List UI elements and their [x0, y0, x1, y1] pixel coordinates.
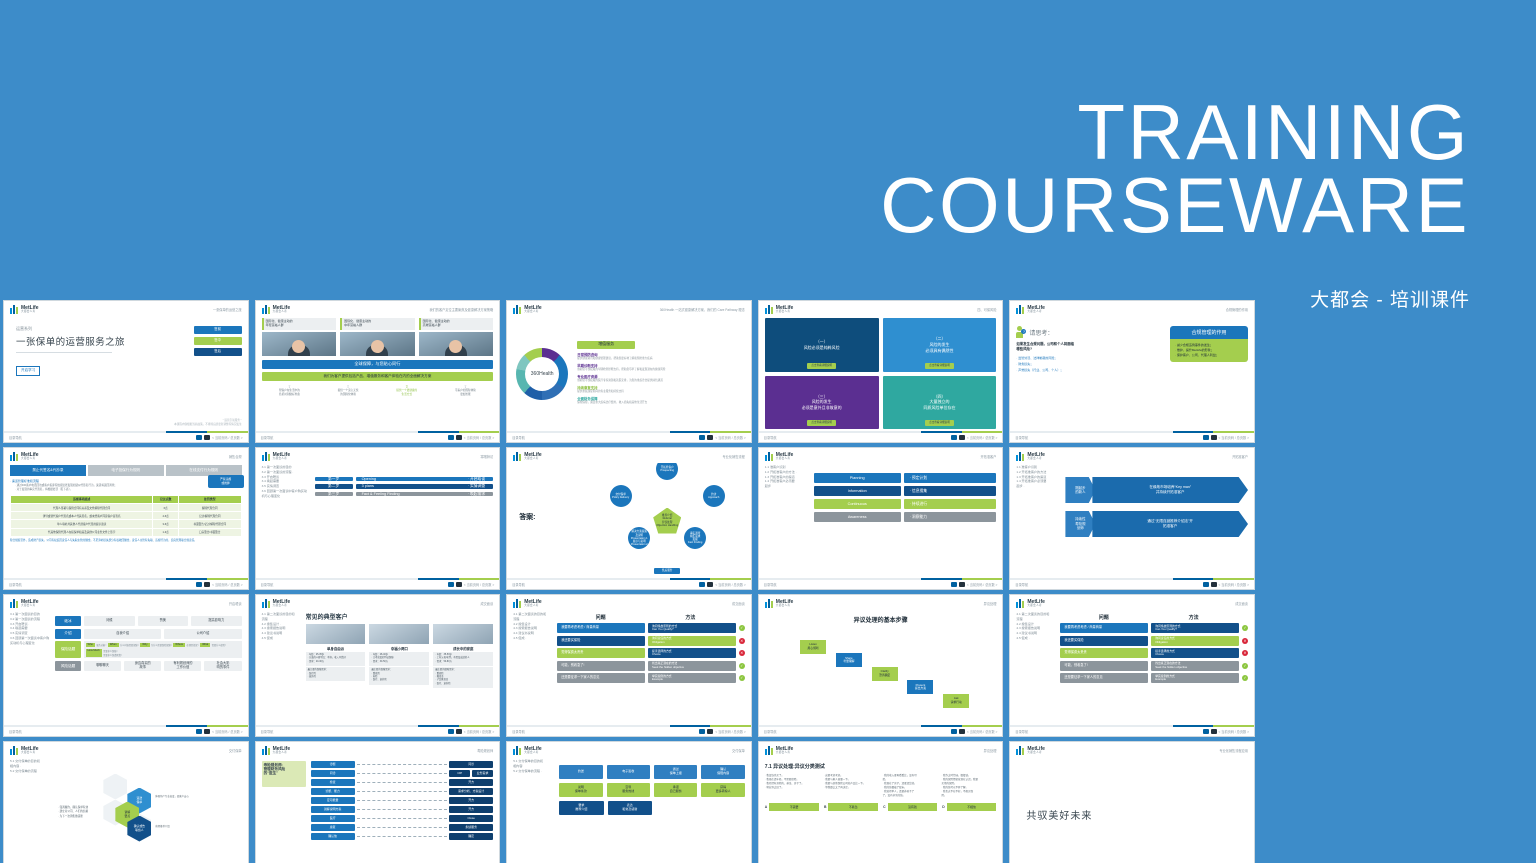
progress-bar [4, 578, 248, 580]
cross-icon: ✕ [739, 650, 745, 656]
table-row: 单人填补并其他人代替客户代签用提示语录3-6点书面警告/记过/解除代理合同 [11, 520, 242, 528]
topic-row: 保险话题Who服务对象?When什么时候需要保障?Why为什么需要保险保障?Wh… [55, 641, 242, 658]
book-icon[interactable] [448, 582, 454, 587]
page-nav[interactable]: < 当前页码 / 总页数 > [464, 729, 494, 734]
page-nav[interactable]: < 当前页码 / 总页数 > [212, 582, 242, 587]
book-icon[interactable] [699, 582, 705, 587]
topic-key: 破冰 [55, 616, 81, 626]
service-desc: 协助您寻找权威的医疗专家资源和就医安排，为您的重疾诊治提供绿色通道 [577, 379, 745, 383]
outline-item[interactable]: 5.2 交付保单的流程 [10, 769, 52, 774]
slide-canvas: MetLife大都会人寿四、可保风险（一）风险必须是纯粹风险点击查看详细说明（二… [759, 301, 1003, 442]
check-icon: ✓ [739, 625, 745, 631]
answer-option[interactable]: B不着急 [824, 803, 878, 811]
table-header-cell: 记过点数 [153, 495, 179, 503]
slide-outline-nav: 4.1 第二次面谈的目的和 流程4.2 搜集设计 ·4.3 搜索报告说明4.4 … [262, 612, 302, 641]
book-icon[interactable] [196, 582, 202, 587]
objection-question: 可能，别着急了! [557, 661, 645, 671]
objection-column: 我的收入要再看看比，没有可给。我现在了房子，还要还贷款。我的钱都被了股市。我觉得… [883, 774, 938, 798]
cycle-bottom-label: 售后服务 [654, 568, 680, 574]
video-icon[interactable] [1211, 582, 1217, 587]
dotted-connector [357, 836, 448, 837]
topic-cell: 提高影响力 [191, 616, 242, 626]
slide-outline-nav: 5.1 交付保单的目的和 相内容 ·5.2 交付保单的流程 [10, 759, 52, 773]
rule-tab[interactable]: 电子投保行为规则 [88, 465, 164, 476]
metlife-logo-text: MetLife大都会人寿 [273, 747, 291, 755]
toc-nav-label[interactable]: 目录导航 [1015, 729, 1028, 734]
slide-thumbnail[interactable]: MetLife大都会人寿销售合规禁止代签名&代抄录电子投保行为规则在线支付行为规… [3, 447, 249, 590]
toc-nav-label[interactable]: 目录导航 [764, 729, 777, 734]
quadrant-detail-button[interactable]: 点击查看详细说明 [925, 420, 954, 426]
persona-caption: 国际化、健康主动的中年富裕人群 [340, 318, 415, 330]
slide-body: 答案:开拓准客户Prospecting约访Approach事实调查购买需求发掘F… [507, 463, 751, 578]
page-nav[interactable]: < 当前页码 / 总页数 > [715, 582, 745, 587]
flow-step: 宣导服务热线 [607, 783, 650, 797]
slide-thumbnail[interactable]: MetLife大都会人寿我们的客户定位主要聚焦及健康解决方案策略国际化、健康主动… [255, 300, 501, 443]
quadrant-detail-button[interactable]: 点击查看详细说明 [807, 420, 836, 426]
metlife-logo: MetLife大都会人寿 [513, 452, 542, 461]
slide-body: 360Health增值服务日常预防咨询提供健康资讯和健康管理建议，帮助您更好地了… [507, 316, 751, 431]
slide-thumbnail[interactable]: MetLife大都会人寿成交面谈4.1 第二次面谈的目的和 流程4.2 搜集设计… [255, 594, 501, 737]
slide-body: 7.1 异议处理:异议分类测试我没钱也买了。我现在还年轻，不需要保险。我已经有其… [759, 757, 1003, 863]
book-icon[interactable] [951, 435, 957, 440]
rule-bullet: · 对于发现的事实代签名，将根据处罚（见下表）。 [10, 488, 242, 492]
step-en: Fact & Feeling Finding [362, 492, 400, 496]
slide-breadcrumb: 开拓准客户 [1232, 454, 1248, 459]
five-w-tag[interactable]: What [200, 643, 210, 648]
donut-chart: 360Health [513, 348, 571, 400]
customer-photo [369, 624, 429, 644]
quadrant-text: 风险的发生必须是意外且非故意的 [802, 399, 842, 410]
metlife-logo-icon [1016, 452, 1025, 461]
flow-step: 获得更多转嫁人 [701, 783, 744, 797]
think-question: 如果发生合规问题，公司和个人将面临哪些风险? [1016, 342, 1164, 352]
slide-breadcrumb: 异议处理 [984, 748, 997, 753]
service-desc: 协助您寻找权威的早期检测诊断支持，帮助您尽早了解和发现潜在的健康风险 [577, 368, 745, 372]
outline-item[interactable]: 4.1 第二次面谈的目的和 流程 [262, 612, 302, 622]
topic-cell: 社会大影响的事件 [204, 661, 241, 671]
footer-controls: < 当前页码 / 总页数 > [448, 582, 494, 587]
slide-header: MetLife大都会人寿合规管理的作用 [1010, 301, 1254, 316]
slide-thumbnail[interactable]: MetLife大都会人寿开拓准客户1.1 准客户识别1.2 开拓准客户的方法 ·… [758, 447, 1004, 590]
book-icon[interactable] [196, 729, 202, 734]
toc-nav-label[interactable]: 目录导航 [261, 435, 274, 440]
cycle-node: 解决方案提案及说明Presentation 1展示与说明Presentation… [628, 527, 650, 549]
book-icon[interactable] [1203, 582, 1209, 587]
step-content: 3 plans· 实情调查 [356, 484, 494, 488]
objection-row: 觉得保费太贵贵提手选择的方式Choice✕ [557, 648, 745, 658]
slide-footer: 目录导航< 当前页码 / 总页数 > [256, 431, 500, 442]
topic-cell: 公司介绍 [164, 629, 241, 639]
metlife-logo: MetLife大都会人寿 [10, 452, 39, 461]
slide-body: 5.1 交付保单的目的和 相内容5.2 交付保单的流程 ·约送电子签收通过保单上… [507, 757, 751, 863]
step-cn: 考量理解 [843, 660, 854, 663]
table-cell: 代理人签署与保险合同有关系及文件解除代理合同 [11, 503, 153, 511]
slide-canvas: MetLife大都会人寿交付保单5.1 交付保单的目的和 相内容 ·5.2 交付… [4, 742, 248, 863]
toc-nav-label[interactable]: 目录导航 [1015, 582, 1028, 587]
five-w-tags: Who服务对象?When什么时候需要保障?Why为什么需要保险保障?Where在… [84, 641, 242, 658]
topic-key: 介绍 [55, 629, 81, 639]
pica-row: Planning· 预定计划 [814, 473, 997, 483]
option-key: C [883, 805, 885, 809]
metlife-logo-text: MetLife大都会人寿 [524, 306, 542, 314]
video-icon[interactable] [1211, 729, 1217, 734]
outline-item[interactable]: 4.5 促成 [262, 636, 302, 641]
video-icon[interactable] [707, 582, 713, 587]
slide-breadcrumb: 专业化销售流程 [722, 454, 744, 459]
step-number: 第三步 [315, 492, 353, 496]
pillar-item: ⇧提供一个安心无忧的国际化体验 [320, 384, 376, 396]
metlife-logo-icon [765, 452, 774, 461]
book-icon[interactable] [699, 435, 705, 440]
page-nav[interactable]: < 当前页码 / 总页数 > [1219, 729, 1249, 734]
slide-thumbnail[interactable]: MetLife大都会人寿合规管理的作用?请思考：如果发生合规问题，公司和个人将面… [1009, 300, 1255, 443]
slide-thumbnail[interactable]: MetLife大都会人寿成交面谈4.1 第二次面谈的目的和 流程4.2 搜集设计… [1009, 594, 1255, 737]
cross-icon: ✕ [1242, 650, 1248, 656]
page-nav[interactable]: < 当前页码 / 总页数 > [1219, 435, 1249, 440]
dotted-connector [357, 809, 448, 810]
cycle-center: 推荐介绍Referral异议处理Objection Handling [653, 508, 681, 534]
step-cn: 澄清确定 [879, 674, 890, 677]
video-icon[interactable] [456, 435, 462, 440]
metlife-logo-text: MetLife大都会人寿 [21, 306, 39, 314]
stage-button[interactable]: 售后 [194, 348, 242, 356]
video-icon[interactable] [204, 435, 210, 440]
video-icon[interactable] [959, 435, 965, 440]
page-nav[interactable]: < 当前页码 / 总页数 > [967, 729, 997, 734]
slide-thumbnail[interactable]: MetLife大都会人寿成交面谈4.1 第二次面谈的目的和 流程4.2 搜集设计… [506, 594, 752, 737]
slide-canvas: MetLife大都会人寿我们的客户定位主要聚焦及健康解决方案策略国际化、健康主动… [256, 301, 500, 442]
metlife-logo: MetLife大都会人寿 [513, 599, 542, 608]
staircase-step: Listen用心倾听 [800, 640, 826, 654]
stage-button[interactable]: 售中 [194, 337, 242, 345]
objection-column: 这要考虑考虑。我要与家人商量一下。我要与其他保险公司的产品比一下。等我跟太太了再… [824, 774, 879, 798]
step-cn: · 唤起需求 [468, 492, 486, 496]
slide-footer: 目录导航< 当前页码 / 总页数 > [507, 578, 751, 589]
slide-body: 4.1 第二次面谈的目的和 流程4.2 搜集设计4.3 搜索报告说明4.4 建议… [1010, 610, 1254, 725]
option-value: 不需要 [769, 803, 819, 811]
toc-nav-label[interactable]: 目录导航 [9, 435, 22, 440]
penalty-table: 违规事项描述记过点数处罚类型代理人签署与保险合同有关系及文件解除代理合同6点解除… [10, 495, 242, 537]
toc-nav-label[interactable]: 目录导航 [1015, 435, 1028, 440]
slide-body: 1.1 准客户识别1.2 开拓准客户的方法1.3 开拓准客户的渠道1.4 开拓准… [1010, 463, 1254, 578]
five-w-desc: 服务对象? [96, 643, 106, 648]
start-learning-button[interactable]: 开启学习 [16, 366, 40, 376]
step-number: 第一步 [315, 477, 353, 481]
slide-thumbnail[interactable]: MetLife大都会人寿交付保单5.1 交付保单的目的和 相内容5.2 交付保单… [506, 741, 752, 863]
outline-item[interactable]: 1.4 开拓准客户必须要 起步 [765, 479, 809, 489]
video-icon[interactable] [204, 729, 210, 734]
metlife-logo-text: MetLife大都会人寿 [21, 600, 39, 608]
progress-bar [759, 578, 1003, 580]
video-icon[interactable] [707, 435, 713, 440]
page-nav[interactable]: < 当前页码 / 总页数 > [464, 435, 494, 440]
flow-step: 约送 [559, 765, 602, 779]
metlife-logo-text: MetLife大都会人寿 [1027, 747, 1045, 755]
option-key: D [942, 805, 944, 809]
footer-controls: < 当前页码 / 总页数 > [196, 435, 242, 440]
metlife-logo: MetLife大都会人寿 [765, 452, 794, 461]
five-w-tag[interactable]: How Much [86, 649, 102, 657]
outline-item[interactable]: 4.1 第二次面谈的目的和 流程 [1016, 612, 1056, 622]
slide-title: 常见的典型客户 [306, 612, 494, 621]
footer-controls: < 当前页码 / 总页数 > [448, 729, 494, 734]
page-nav[interactable]: < 当前页码 / 总页数 > [464, 582, 494, 587]
outline-item[interactable]: 3.6 回顾第一次面谈中客户购买动机与心理变化 [10, 636, 50, 646]
footer-controls: < 当前页码 / 总页数 > [699, 435, 745, 440]
mapping-right: 问诊 [449, 761, 493, 768]
slide-thumbnail[interactable]: MetLife大都会人寿360Health 一站式健康解决方案，我们的 Care… [506, 300, 752, 443]
table-header-cell: 处罚类型 [178, 495, 241, 503]
video-icon[interactable] [456, 582, 462, 587]
page-nav[interactable]: < 当前页码 / 总页数 > [212, 729, 242, 734]
staircase-step: Ask请求行动 [943, 694, 969, 708]
service-item: 早期诊断支持协助您寻找权威的早期检测诊断支持，帮助您尽早了解和发现潜在的健康风险 [577, 363, 745, 372]
objection-column: 我没钱也买了。我现在还年轻，不需要保险。我已经有其他的、基金、房子了。将业界太旧… [765, 774, 820, 798]
mapping-row: 检查开方 [311, 779, 494, 786]
metlife-logo: MetLife大都会人寿 [262, 452, 291, 461]
column-header-method: 方法 [1150, 614, 1237, 621]
rule-tab[interactable]: 禁止代签名&代抄录 [10, 465, 86, 476]
footer-controls: < 当前页码 / 总页数 > [1203, 435, 1249, 440]
quadrant-detail-button[interactable]: 点击查看详细说明 [925, 363, 954, 369]
five-w-tag[interactable]: Where [173, 643, 185, 648]
slide-thumbnail[interactable]: MetLife大都会人寿开启晤谈3.1 第一次面谈的目的3.2 第一次面谈的流程… [3, 594, 249, 737]
risk-quadrant[interactable]: （二）风险的发生必须具有偶然性点击查看详细说明 [883, 318, 997, 372]
slide-thumbnail[interactable]: MetLife大都会人寿寒暄拜访3.1 第一次面谈的目的3.2 第一次面谈的流程… [255, 447, 501, 590]
service-desc: 提供健康资讯和健康管理建议，帮助您更好地了解和预防重大疾病 [577, 357, 745, 361]
metlife-logo-text: MetLife大都会人寿 [776, 600, 794, 608]
mapping-row: 医疗Close [311, 815, 494, 822]
persona-card: 国际化、健康主动的年轻富裕人群 [262, 318, 337, 356]
slide-body: （一）风险必须是纯粹风险点击查看详细说明（二）风险的发生必须具有偶然性点击查看详… [759, 316, 1003, 431]
slide-title: 7.1 异议处理:异议分类测试 [765, 763, 997, 770]
flow-row: 要求推荐介绍表达和常及感谢 [559, 801, 745, 815]
pillar-item: ⇧提供一个更健康的生活方式 [379, 384, 435, 396]
method-en: Example [652, 678, 663, 681]
slide-breadcrumb: 专业化销售流程应用 [1219, 748, 1248, 753]
mapping-right: 确定 [449, 833, 493, 840]
outline-item[interactable]: 1.4 开拓准客户必须要 起步 · [1016, 479, 1060, 489]
pica-row: Continuous· 持续进行 [814, 499, 997, 509]
page-nav[interactable]: < 当前页码 / 总页数 > [1219, 582, 1249, 587]
outline-item[interactable]: 3.6 回顾第一次面谈中客户购买动机与心理变化 [262, 489, 310, 499]
outline-item[interactable]: 4.5 促成 · [1016, 636, 1056, 641]
page-nav[interactable]: < 当前页码 / 总页数 > [715, 729, 745, 734]
risk-quadrant[interactable]: （四）大量独立的同质风险单位存在点击查看详细说明 [883, 376, 997, 430]
step-row: 第二步3 plans· 实情调查 [315, 484, 494, 488]
slide-header: MetLife大都会人寿专业化销售流程 [507, 448, 751, 463]
footer-controls: < 当前页码 / 总页数 > [1203, 729, 1249, 734]
slide-thumbnail[interactable]: MetLife大都会人寿一张保单的运营之旅运营系列一张保单的运营服务之旅开启学习… [3, 300, 249, 443]
metlife-logo-text: MetLife大都会人寿 [524, 747, 542, 755]
video-icon[interactable] [959, 729, 965, 734]
slide-footer: 目录导航< 当前页码 / 总页数 > [1010, 431, 1254, 442]
progress-bar [759, 725, 1003, 727]
toc-nav-label[interactable]: 目录导航 [261, 582, 274, 587]
answer-options: A不需要B不着急C没有钱D不相信 [765, 803, 997, 811]
column-header-question: 问题 [557, 614, 644, 621]
objection-method: 询问缘故原则的方式Can You Qualify? [1151, 623, 1239, 633]
slide-thumbnail[interactable]: MetLife大都会人寿专业化销售流程应用共驭美好未来目录导航< 当前页码 / … [1009, 741, 1255, 863]
book-icon[interactable] [448, 435, 454, 440]
five-w-tag[interactable]: When [108, 643, 119, 648]
objection-method: 询问责任的方式Obligation [1151, 636, 1239, 646]
toc-nav-label[interactable]: 目录导航 [512, 582, 525, 587]
objection-method: 询问缘故原则的方式Can You Qualify? [648, 623, 736, 633]
slide-body: 寿险规划师:管理财务风险的“医生”诊断问诊问诊CIP业务需求检查开方诊断、能力需… [256, 757, 500, 863]
slide-canvas: MetLife大都会人寿成交面谈4.1 第二次面谈的目的和 流程4.2 搜集设计… [507, 595, 751, 736]
outline-item[interactable]: 4.5 促成 · [513, 636, 553, 641]
staircase-step: Share考量理解 [836, 653, 862, 667]
risk-quadrant[interactable]: （一）风险必须是纯粹风险点击查看详细说明 [765, 318, 879, 372]
stage-buttons: 售前售中售后 [194, 326, 242, 359]
flow-step: 说明保单条款 [559, 783, 602, 797]
mapping-left: 检查 [311, 779, 355, 786]
book-icon[interactable] [1203, 729, 1209, 734]
hex-note: 体现你产专业态度，使客户安心 [155, 794, 199, 798]
flow-step: 确认保障内容 [701, 765, 744, 779]
objection-question: 可能，别着急了! [1060, 661, 1148, 671]
table-header-cell: 违规事项描述 [11, 495, 153, 503]
answer-option[interactable]: A不需要 [765, 803, 819, 811]
outline-item[interactable]: 5.1 交付保单的目的和 相内容 [513, 759, 555, 769]
toc-nav-label[interactable]: 目录导航 [764, 435, 777, 440]
service-item: 专业医疗资源协助您寻找权威的医疗专家资源和就医安排，为您的重疾诊治提供绿色通道 [577, 374, 745, 383]
slide-header: MetLife大都会人寿我们的客户定位主要聚焦及健康解决方案策略 [256, 301, 500, 316]
page-nav[interactable]: < 当前页码 / 总页数 > [967, 435, 997, 440]
chevron-row: 刚起步的新人在缘故市场培养“Key man”并持续开拓准客户 [1065, 477, 1248, 503]
outline-item[interactable]: 5.1 交付保单的目的和 相内容 · [10, 759, 52, 769]
table-cell: 4-6点 [153, 512, 179, 520]
method-en: Can You Qualify? [652, 628, 674, 631]
book-icon[interactable] [951, 729, 957, 734]
quadrant-detail-button[interactable]: 点击查看详细说明 [807, 363, 836, 369]
slide-canvas: MetLife大都会人寿开启晤谈3.1 第一次面谈的目的3.2 第一次面谈的流程… [4, 595, 248, 736]
five-w-tag[interactable]: Why [140, 643, 149, 648]
page-nav[interactable]: < 当前页码 / 总页数 > [967, 582, 997, 587]
risk-quadrant[interactable]: （三）风险的发生必须是意外且非故意的点击查看详细说明 [765, 376, 879, 430]
slide-header: MetLife大都会人寿成交面谈 [1010, 595, 1254, 610]
check-icon: ✓ [1242, 625, 1248, 631]
slide-thumbnail[interactable]: MetLife大都会人寿交付保单5.1 交付保单的目的和 相内容 ·5.2 交付… [3, 741, 249, 863]
video-icon[interactable] [204, 582, 210, 587]
cross-icon: ✕ [1242, 638, 1248, 644]
page-nav[interactable]: < 当前页码 / 总页数 > [212, 435, 242, 440]
book-icon[interactable] [448, 729, 454, 734]
mapping-row: 问诊CIP业务需求 [311, 770, 494, 777]
slide-thumbnail[interactable]: MetLife大都会人寿开拓准客户1.1 准客户识别1.2 开拓准客户的方法1.… [1009, 447, 1255, 590]
divider [16, 352, 112, 353]
five-w-desc: 需要什么保险? [212, 643, 226, 648]
metlife-logo-icon [262, 305, 271, 314]
toc-nav-label[interactable]: 目录导航 [764, 582, 777, 587]
metlife-logo-icon [513, 452, 522, 461]
five-w-desc: 需要多少保障?需要多少保费预算? [103, 649, 122, 657]
metlife-logo-icon [765, 305, 774, 314]
video-icon[interactable] [959, 582, 965, 587]
slide-thumbnail[interactable]: MetLife大都会人寿异议处理7.1 异议处理:异议分类测试我没钱也买了。我现… [758, 741, 1004, 863]
video-icon[interactable] [707, 729, 713, 734]
book-icon[interactable] [1203, 435, 1209, 440]
toc-nav-label[interactable]: 目录导航 [9, 582, 22, 587]
check-icon: ✓ [739, 663, 745, 669]
book-icon[interactable] [196, 435, 202, 440]
book-icon[interactable] [951, 582, 957, 587]
chevron-row: 持续性寿险规划师通过“无限连锁推荐介绍法”开拓准客户 [1065, 511, 1248, 537]
cycle-node: 交付保单Policy Delivery [610, 485, 632, 507]
objection-item: 等我跟太太了再决定。 [824, 786, 879, 790]
staircase-diagram: Listen用心倾听Share考量理解Clarify澄清确定Present提出方… [769, 624, 993, 721]
page-nav[interactable]: < 当前页码 / 总页数 > [715, 435, 745, 440]
slide-outline-nav: 3.1 第一次面谈的目的3.2 第一次面谈的流程3.3 开启晤谈 ·3.4 唤起… [10, 612, 50, 645]
check-icon: ✓ [1242, 663, 1248, 669]
stage-button[interactable]: 售前 [194, 326, 242, 334]
video-icon[interactable] [1211, 435, 1217, 440]
metlife-logo-icon [10, 599, 19, 608]
book-icon[interactable] [699, 729, 705, 734]
five-w-tag[interactable]: Who [86, 643, 95, 648]
slide-canvas: MetLife大都会人寿成交面谈4.1 第二次面谈的目的和 流程4.2 搜集设计… [256, 595, 500, 736]
toc-nav-label[interactable]: 目录导航 [261, 729, 274, 734]
answer-label: 答案: [519, 512, 535, 522]
outline-item[interactable]: 4.1 第二次面谈的目的和 流程 [513, 612, 553, 622]
five-w-desc: 为什么需要保险保障? [151, 643, 172, 648]
mapping-left: 诊断、能力 [311, 788, 355, 795]
slide-thumbnail[interactable]: MetLife大都会人寿异议处理异议处理的基本步骤Listen用心倾听Share… [758, 594, 1004, 737]
method-en: Choice [652, 653, 661, 656]
objection-row: 我还要买保险询问责任的方式Obligation✕ [557, 636, 745, 646]
progress-bar [256, 725, 500, 727]
metlife-logo: MetLife大都会人寿 [10, 746, 39, 755]
metlife-logo-icon [262, 452, 271, 461]
flow-row: 说明保单条款宣导服务热线承诺自己服务获得更多转嫁人 [559, 783, 745, 797]
flow-step: 要求推荐介绍 [559, 801, 603, 815]
banner-blue: 全球保障，与您贴心同行 [262, 360, 494, 369]
outline-item[interactable]: 5.2 交付保单的流程 · [513, 769, 555, 774]
answer-option[interactable]: D不相信 [942, 803, 996, 811]
video-icon[interactable] [456, 729, 462, 734]
slide-header: MetLife大都会人寿专业化销售流程应用 [1010, 742, 1254, 757]
slide-header: MetLife大都会人寿360Health 一站式健康解决方案，我们的 Care… [507, 301, 751, 316]
slide-footer: 目录导航< 当前页码 / 总页数 > [4, 725, 248, 736]
metlife-logo-text: MetLife大都会人寿 [21, 453, 39, 461]
slide-body: ?请思考：如果发生合规问题，公司和个人将面临哪些风险?· 监管处罚、法律制裁的风… [1010, 316, 1254, 431]
mapping-right: 开方 [449, 779, 493, 786]
service-item: 全面财务保障保险保障，涵盖重大疾病治疗费用，收入损失和其他生活开支 [577, 396, 745, 405]
objection-method: 举实案例的方式Example [648, 673, 736, 683]
toc-nav-label[interactable]: 目录导航 [512, 435, 525, 440]
slide-thumbnail[interactable]: MetLife大都会人寿寿险规划师寿险规划师:管理财务风险的“医生”诊断问诊问诊… [255, 741, 501, 863]
slide-canvas: MetLife大都会人寿成交面谈4.1 第二次面谈的目的和 流程4.2 搜集设计… [1010, 595, 1254, 736]
slide-canvas: MetLife大都会人寿开拓准客户1.1 准客户识别1.2 开拓准客户的方法 ·… [759, 448, 1003, 589]
toc-nav-label[interactable]: 目录导航 [9, 729, 22, 734]
mapping-left: 问诊 [311, 770, 355, 777]
mapping-right: 需求分析、方案设计 [449, 788, 493, 795]
slide-thumbnail[interactable]: MetLife大都会人寿专业化销售流程答案:开拓准客户Prospecting约访… [506, 447, 752, 590]
answer-option[interactable]: C没有钱 [883, 803, 937, 811]
method-en: Seek the hidden objective [652, 666, 684, 669]
topic-cell: 自我介绍 [84, 629, 161, 639]
objection-row: 可能，别着急了!找出真正潜在的方法Seek the hidden objecti… [557, 661, 745, 671]
slide-thumbnail[interactable]: MetLife大都会人寿四、可保风险（一）风险必须是纯粹风险点击查看详细说明（二… [758, 300, 1004, 443]
pica-en: Awareness [814, 512, 901, 522]
table-cell: 单人填补并其他人代替客户代签用提示语录 [11, 520, 153, 528]
slide-footer: 目录导航< 当前页码 / 总页数 > [759, 725, 1003, 736]
customer-card: 成长中的家庭· 年龄：35-50岁· 上有父母/老伴，有需及成就的人· 需求：5… [433, 624, 493, 688]
toc-nav-label[interactable]: 目录导航 [512, 729, 525, 734]
table-cell: 记过/解除代理合同 [178, 512, 241, 520]
slide-header: MetLife大都会人寿开启晤谈 [4, 595, 248, 610]
